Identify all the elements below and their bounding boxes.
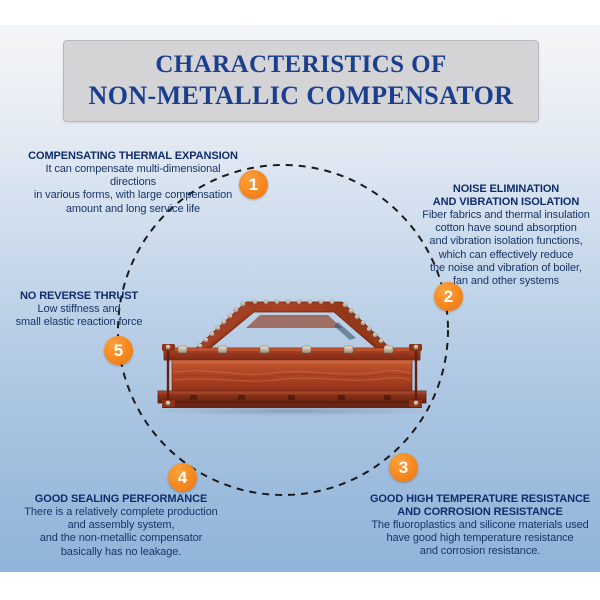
- feature-2-body-line-1: Fiber fabrics and thermal insulation: [412, 209, 600, 222]
- product-image: [142, 288, 442, 418]
- feature-2-heading-line-1: NOISE ELIMINATION: [412, 183, 600, 196]
- compensator-illustration: [142, 288, 442, 418]
- feature-4-heading-line-1: GOOD SEALING PERFORMANCE: [18, 493, 224, 506]
- feature-2-heading-line-2: AND VIBRATION ISOLATION: [412, 196, 600, 209]
- feature-2-body-line-3: and vibration isolation functions,: [412, 235, 600, 248]
- feature-block-1: COMPENSATING THERMAL EXPANSION It can co…: [22, 150, 244, 216]
- feature-2-body-line-6: fan and other systems: [412, 275, 600, 288]
- title-line-2: NON-METALLIC COMPENSATOR: [89, 80, 514, 112]
- feature-2-body-line-2: cotton have sound absorption: [412, 222, 600, 235]
- feature-4-body-line-2: and assembly system,: [18, 519, 224, 532]
- feature-4-body-line-3: and the non-metallic compensator: [18, 532, 224, 545]
- feature-1-heading-line-1: COMPENSATING THERMAL EXPANSION: [22, 150, 244, 163]
- badge-3[interactable]: 3: [389, 453, 418, 482]
- feature-5-body-line-1: Low stiffness and: [4, 303, 154, 316]
- infographic-root: 1 2 3 4 5 CHARACTERISTICS OF NON-METALLI…: [0, 0, 600, 600]
- title-line-1: CHARACTERISTICS OF: [155, 50, 446, 81]
- feature-2-body-line-5: the noise and vibration of boiler,: [412, 262, 600, 275]
- feature-5-body-line-2: small elastic reaction force: [4, 316, 154, 329]
- feature-3-body-line-1: The fluoroplastics and silicone material…: [364, 519, 596, 532]
- feature-1-body-line-3: amount and long service life: [22, 203, 244, 216]
- feature-block-2: NOISE ELIMINATION AND VIBRATION ISOLATIO…: [412, 183, 600, 288]
- feature-4-body-line-1: There is a relatively complete productio…: [18, 506, 224, 519]
- feature-1-body-line-2: in various forms, with large compensatio…: [22, 189, 244, 202]
- feature-3-heading-line-1: GOOD HIGH TEMPERATURE RESISTANCE: [364, 493, 596, 506]
- feature-2-body-line-4: which can effectively reduce: [412, 249, 600, 262]
- page-title: CHARACTERISTICS OF NON-METALLIC COMPENSA…: [63, 40, 539, 122]
- feature-4-body-line-4: basically has no leakage.: [18, 546, 224, 559]
- feature-3-body-line-3: and corrosion resistance.: [364, 545, 596, 558]
- feature-1-body-line-1: It can compensate multi-dimensional dire…: [22, 163, 244, 189]
- badge-5[interactable]: 5: [104, 336, 133, 365]
- feature-block-4: GOOD SEALING PERFORMANCE There is a rela…: [18, 493, 224, 559]
- feature-block-3: GOOD HIGH TEMPERATURE RESISTANCE AND COR…: [364, 493, 596, 559]
- feature-3-body-line-2: have good high temperature resistance: [364, 532, 596, 545]
- feature-3-heading-line-2: AND CORROSION RESISTANCE: [364, 506, 596, 519]
- badge-4[interactable]: 4: [168, 463, 197, 492]
- feature-5-heading-line-1: NO REVERSE THRUST: [4, 290, 154, 303]
- product-shadow: [150, 406, 436, 416]
- feature-block-5: NO REVERSE THRUST Low stiffness and smal…: [4, 290, 154, 329]
